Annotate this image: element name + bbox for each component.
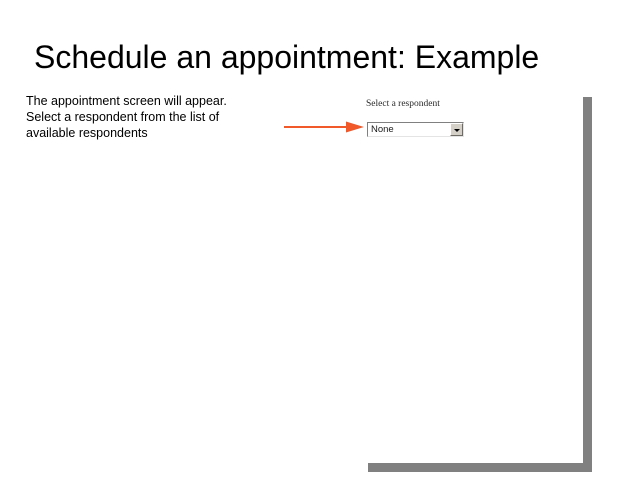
page-title: Schedule an appointment: Example: [34, 38, 614, 76]
respondent-dropdown-value: None: [368, 124, 450, 135]
chevron-down-icon[interactable]: [450, 123, 463, 136]
body-paragraph: The appointment screen will appear. Sele…: [26, 93, 258, 141]
screenshot-shadow-bottom: [368, 463, 592, 472]
screenshot-shadow-right: [583, 97, 592, 463]
slide-canvas: Schedule an appointment: Example The app…: [0, 0, 640, 480]
select-respondent-label: Select a respondent: [366, 99, 440, 110]
chevron-down-glyph: [454, 129, 460, 132]
respondent-dropdown[interactable]: None: [367, 122, 464, 137]
arrow-right-icon: [284, 120, 368, 134]
